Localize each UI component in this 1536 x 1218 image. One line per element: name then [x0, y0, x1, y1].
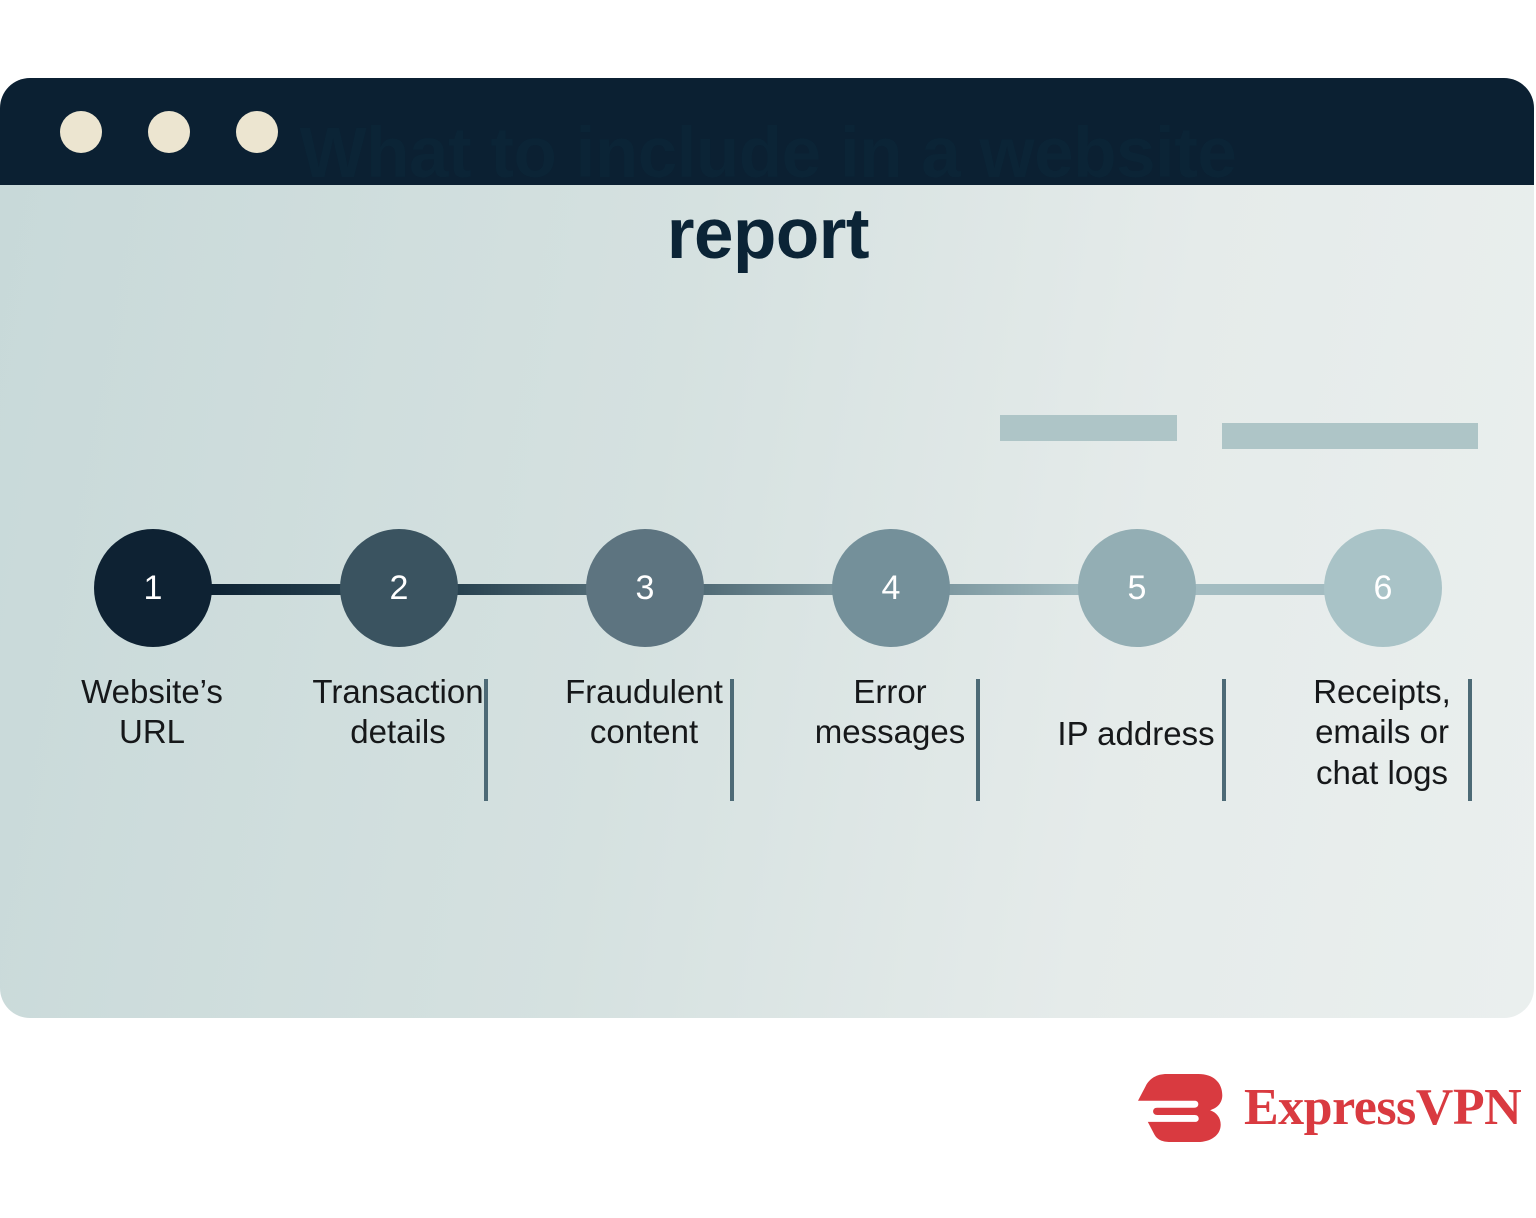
page-title: What to include in a website report — [238, 114, 1298, 276]
step-label-6: Receipts,emails orchat logs — [1264, 672, 1500, 793]
steps-timeline: 123456 — [94, 529, 1444, 649]
minimize-dot-icon[interactable] — [148, 111, 190, 153]
expressvpn-e-mark-icon — [1138, 1074, 1226, 1142]
step-label-2: Transactiondetails — [280, 672, 516, 753]
step-label-line: Error — [772, 672, 1008, 712]
step-label-line: content — [526, 712, 762, 752]
step-label-3: Fraudulentcontent — [526, 672, 762, 753]
step-label-4: Errormessages — [772, 672, 1008, 753]
step-label-1: Website’sURL — [34, 672, 270, 753]
step-label-line: Fraudulent — [526, 672, 762, 712]
timeline-connector-4 — [944, 584, 1084, 595]
timeline-connector-2 — [452, 584, 592, 595]
step-label-line: messages — [772, 712, 1008, 752]
step-circle-2[interactable]: 2 — [340, 529, 458, 647]
step-label-line: Transaction — [280, 672, 516, 712]
timeline-connector-3 — [698, 584, 838, 595]
step-label-line: Website’s — [34, 672, 270, 712]
timeline-connector-1 — [206, 584, 346, 595]
step-circle-4[interactable]: 4 — [832, 529, 950, 647]
label-divider-5 — [1468, 679, 1472, 801]
step-circle-5[interactable]: 5 — [1078, 529, 1196, 647]
step-label-line: IP address — [1018, 714, 1254, 754]
placeholder-bar-1 — [1000, 415, 1177, 441]
brand-name: ExpressVPN — [1244, 1082, 1521, 1134]
label-divider-4 — [1222, 679, 1226, 801]
step-label-line: details — [280, 712, 516, 752]
step-circle-1[interactable]: 1 — [94, 529, 212, 647]
brand-logo: ExpressVPN — [1138, 1074, 1521, 1142]
infographic-canvas: What to include in a website report 1234… — [0, 0, 1536, 1218]
step-label-5: IP address — [1018, 672, 1254, 754]
step-label-line: emails or — [1264, 712, 1500, 752]
label-divider-2 — [730, 679, 734, 801]
step-label-line: Receipts, — [1264, 672, 1500, 712]
timeline-connector-5 — [1190, 584, 1330, 595]
step-circle-6[interactable]: 6 — [1324, 529, 1442, 647]
step-labels-row: Website’sURLTransactiondetailsFraudulent… — [0, 672, 1534, 832]
step-label-line: URL — [34, 712, 270, 752]
step-label-line: chat logs — [1264, 753, 1500, 793]
close-dot-icon[interactable] — [60, 111, 102, 153]
step-circle-3[interactable]: 3 — [586, 529, 704, 647]
label-divider-1 — [484, 679, 488, 801]
label-divider-3 — [976, 679, 980, 801]
placeholder-bar-2 — [1222, 423, 1478, 449]
